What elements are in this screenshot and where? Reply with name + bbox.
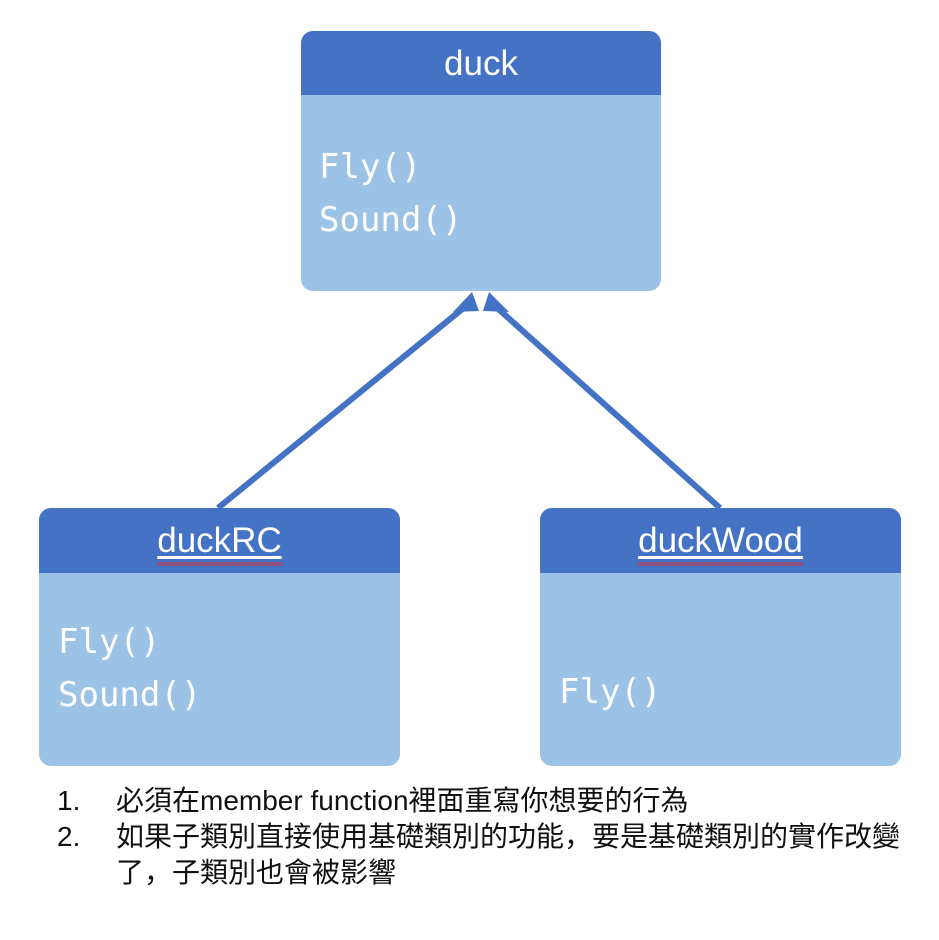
- note-item-2: 2. 如果子類別直接使用基礎類別的功能，要是基礎類別的實作改變了，子類別也會被影…: [40, 819, 920, 891]
- uml-class-duckrc-header: duckRC: [39, 508, 400, 573]
- uml-class-duckrc-methods: Fly() Sound(): [39, 573, 400, 766]
- arrow-duckrc-to-duck: [218, 292, 479, 508]
- uml-class-duck-header: duck: [301, 31, 661, 95]
- arrow-duckwood-to-duck: [483, 292, 720, 508]
- uml-class-duckwood-name: duckWood: [638, 523, 803, 558]
- uml-class-duckrc-name: duckRC: [157, 523, 281, 558]
- note-item-1-text: 必須在member function裡面重寫你想要的行為: [116, 783, 920, 819]
- note-list: 1. 必須在member function裡面重寫你想要的行為 2. 如果子類別…: [40, 783, 920, 890]
- uml-class-duckwood-header: duckWood: [540, 508, 901, 573]
- uml-class-duckwood-methods: Fly(): [540, 573, 901, 766]
- uml-class-duckwood[interactable]: duckWood Fly(): [540, 508, 901, 766]
- uml-class-duck[interactable]: duck Fly() Sound(): [301, 31, 661, 291]
- note-item-2-number: 2.: [40, 819, 116, 855]
- uml-class-duckrc[interactable]: duckRC Fly() Sound(): [39, 508, 400, 766]
- note-item-2-text: 如果子類別直接使用基礎類別的功能，要是基礎類別的實作改變了，子類別也會被影響: [116, 819, 920, 891]
- note-item-1-number: 1.: [40, 783, 116, 819]
- uml-class-duck-name: duck: [444, 46, 518, 81]
- note-item-1: 1. 必須在member function裡面重寫你想要的行為: [40, 783, 920, 819]
- uml-class-duck-methods: Fly() Sound(): [301, 95, 661, 291]
